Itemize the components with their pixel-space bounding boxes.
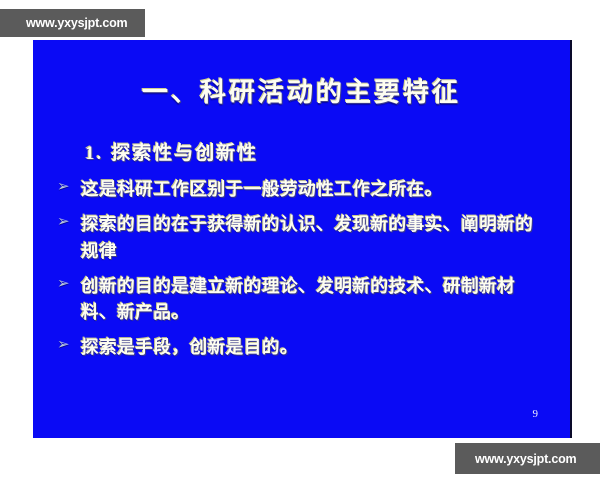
watermark-top-left: www.yxysjpt.com — [0, 9, 145, 37]
presentation-slide: 一、科研活动的主要特征 1.探索性与创新性 ➢ 这是科研工作区别于一般劳动性工作… — [33, 40, 570, 438]
slide-title: 一、科研活动的主要特征 — [33, 72, 570, 109]
list-item: ➢ 探索是手段，创新是目的。 — [57, 334, 549, 360]
slide-section-number: 1. — [85, 143, 103, 164]
arrow-bullet-icon: ➢ — [57, 334, 81, 353]
list-item: ➢ 探索的目的在于获得新的认识、发现新的事实、阐明新的规律 — [57, 211, 549, 264]
bullet-list: ➢ 这是科研工作区别于一般劳动性工作之所在。 ➢ 探索的目的在于获得新的认识、发… — [57, 176, 549, 370]
watermark-top-left-text: www.yxysjpt.com — [26, 16, 127, 30]
list-item: ➢ 这是科研工作区别于一般劳动性工作之所在。 — [57, 176, 549, 202]
list-item-text: 探索的目的在于获得新的认识、发现新的事实、阐明新的规律 — [81, 211, 549, 264]
arrow-bullet-icon: ➢ — [57, 211, 81, 230]
slide-page-number: 9 — [533, 408, 539, 420]
list-item: ➢ 创新的目的是建立新的理论、发明新的技术、研制新材料、新产品。 — [57, 273, 549, 326]
slide-section-heading: 1.探索性与创新性 — [85, 138, 258, 165]
list-item-text: 创新的目的是建立新的理论、发明新的技术、研制新材料、新产品。 — [81, 273, 549, 326]
arrow-bullet-icon: ➢ — [57, 176, 81, 195]
arrow-bullet-icon: ➢ — [57, 273, 81, 292]
list-item-text: 这是科研工作区别于一般劳动性工作之所在。 — [81, 176, 549, 202]
list-item-text: 探索是手段，创新是目的。 — [81, 334, 549, 360]
watermark-bottom-right: www.yxysjpt.com — [455, 443, 600, 474]
slide-section-title: 探索性与创新性 — [111, 143, 258, 164]
watermark-bottom-right-text: www.yxysjpt.com — [475, 452, 576, 466]
